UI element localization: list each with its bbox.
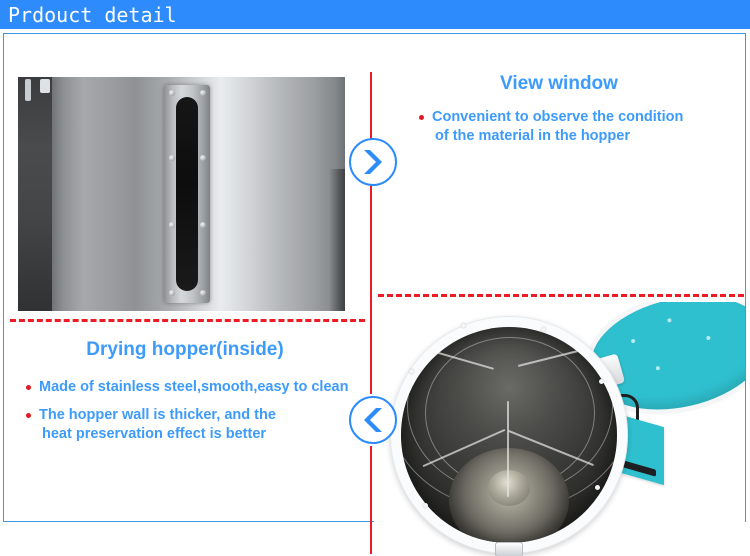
bezel-screw [200,222,206,228]
list-item: Made of stainless steel,smooth,easy to c… [26,378,358,397]
bullet-line: Made of stainless steel,smooth,easy to c… [39,378,358,397]
bullet-line: The hopper wall is thicker, and the [39,406,358,425]
page-title: Prdouct detail [8,2,177,28]
bezel-screw [169,222,175,228]
divider-vertical-top [370,72,372,140]
bullet-line: heat preservation effect is better [39,425,358,444]
lid-screw [631,339,636,344]
lid-screw [706,336,711,341]
drying-hopper-panel: Drying hopper(inside) Made of stainless … [4,334,366,453]
barrel-stud [423,503,428,508]
barrel-stud [541,327,546,332]
sight-glass-photo [18,77,345,311]
list-item: Convenient to observe the condition of t… [419,108,733,146]
hopper-cone-tip [488,470,530,506]
hopper-inner-wall [401,327,617,543]
divider-horizontal-left [10,319,365,322]
barrel-stud [409,369,414,374]
bezel-screw [200,90,206,96]
hopper-interior-photo [374,302,745,556]
sight-glass-pane [176,97,198,291]
hopper-latch [495,542,523,556]
chevron-left-icon [360,406,386,434]
bezel-screw [200,155,206,161]
view-window-panel: View window Convenient to observe the co… [373,40,745,155]
photo-dark-edge [18,77,52,311]
drying-hopper-bullet-list: Made of stainless steel,smooth,easy to c… [4,378,366,444]
chevron-right-badge[interactable] [349,138,397,186]
divider-horizontal-right [378,294,744,297]
header-banner: Prdouct detail [0,0,750,29]
bullet-dot-icon [419,115,424,120]
lid-screw [655,366,660,371]
content-box: View window Convenient to observe the co… [3,33,746,522]
bullet-line: Convenient to observe the condition [432,108,733,127]
photo-hook-detail [25,79,31,101]
divider-vertical-bottom [370,446,372,554]
list-item: The hopper wall is thicker, and the heat… [26,406,358,444]
view-window-heading: View window [373,72,745,96]
view-window-bullet-list: Convenient to observe the condition of t… [373,108,745,146]
barrel-stud [599,379,604,384]
barrel-stud [595,485,600,490]
bezel-screw [169,90,175,96]
bullet-dot-icon [26,385,31,390]
chevron-right-icon [360,148,386,176]
bezel-screw [169,155,175,161]
bullet-line: of the material in the hopper [432,127,733,146]
photo-hook-detail-2 [40,79,50,93]
hopper-vane [507,401,509,497]
lid-screw [667,318,672,323]
barrel-stud [461,323,466,328]
drying-hopper-heading: Drying hopper(inside) [4,338,366,362]
chevron-left-badge[interactable] [349,396,397,444]
hopper-barrel [390,316,628,554]
divider-vertical-middle [370,182,372,394]
bullet-dot-icon [26,413,31,418]
